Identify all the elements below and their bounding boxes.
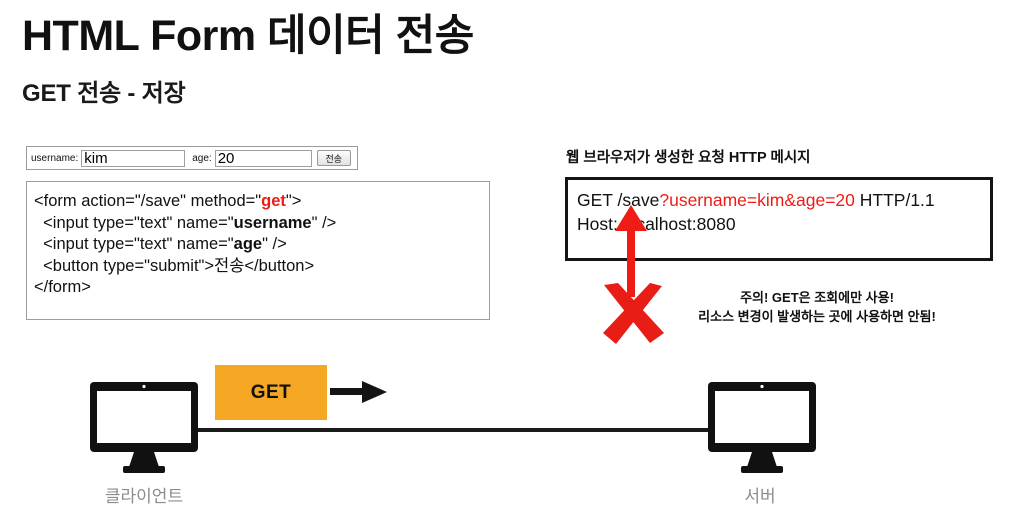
code-text: <form action="/save" method=" [34, 192, 261, 210]
server-monitor-icon [708, 382, 816, 474]
input-name-username: username [234, 214, 312, 232]
page-subtitle: GET 전송 - 저장 [22, 73, 185, 108]
submit-button[interactable]: 전송 [317, 150, 351, 166]
warning-line-1: 주의! GET은 조회에만 사용! [672, 288, 962, 307]
warning-line-2: 리소스 변경이 발생하는 곳에 사용하면 안됨! [672, 307, 962, 326]
query-string: ?username=kim&age=20 [659, 190, 855, 210]
network-wire [194, 428, 722, 432]
page-title: HTML Form 데이터 전송 [22, 14, 474, 59]
username-input[interactable]: kim [81, 150, 185, 167]
http-message-caption: 웹 브라우저가 생성한 요청 HTTP 메시지 [566, 146, 811, 167]
code-text: " /> [312, 214, 337, 232]
form-code-block: <form action="/save" method="get"> <inpu… [26, 181, 490, 320]
code-line-4: <button type="submit">전송</button> [34, 256, 489, 278]
warning-text: 주의! GET은 조회에만 사용! 리소스 변경이 발생하는 곳에 사용하면 안… [672, 288, 962, 326]
request-direction-arrow-icon [330, 379, 388, 405]
code-text: "> [286, 192, 302, 210]
code-text: " /> [262, 235, 287, 253]
http-version: HTTP/1.1 [855, 190, 935, 210]
input-name-age: age [234, 235, 262, 253]
code-line-1: <form action="/save" method="get"> [34, 191, 489, 213]
age-label: age: [192, 153, 211, 164]
code-text: <input type="text" name=" [34, 235, 234, 253]
x-mark-icon [598, 283, 668, 345]
code-text: <input type="text" name=" [34, 214, 234, 232]
username-label: username: [31, 153, 78, 164]
client-label: 클라이언트 [68, 482, 220, 507]
age-input[interactable]: 20 [215, 150, 312, 167]
code-line-3: <input type="text" name="age" /> [34, 234, 489, 256]
html-form-preview: username: kim age: 20 전송 [26, 146, 358, 170]
code-line-2: <input type="text" name="username" /> [34, 213, 489, 235]
code-line-5: </form> [34, 277, 489, 299]
method-keyword: get [261, 192, 286, 210]
server-label: 서버 [684, 482, 836, 507]
client-monitor-icon [90, 382, 198, 474]
get-method-badge: GET [215, 365, 327, 420]
